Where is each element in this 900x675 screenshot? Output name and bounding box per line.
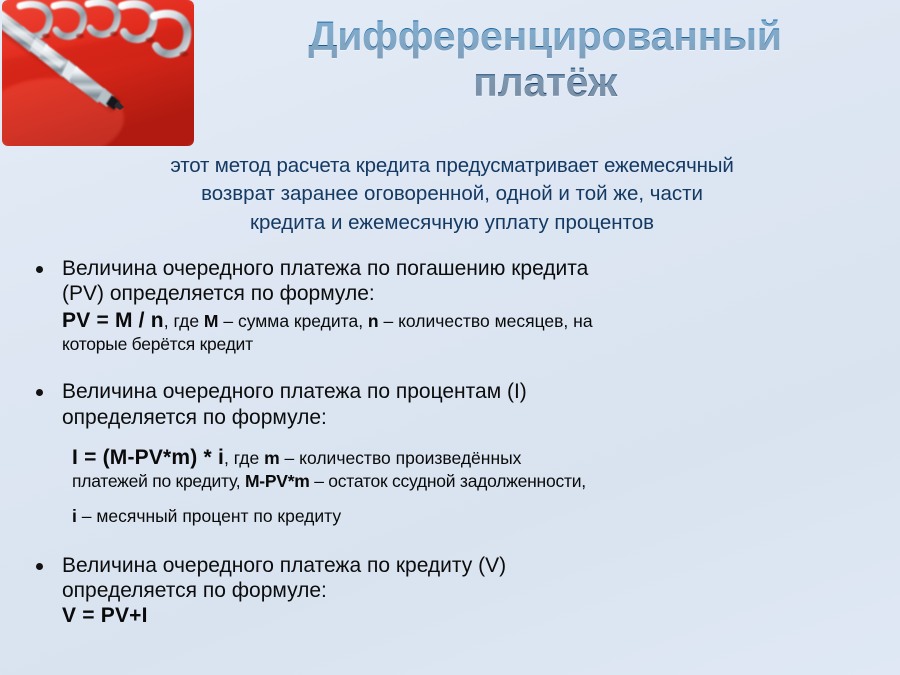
bullet-item-2: Величина очередного платежа по процентам… (24, 379, 884, 527)
formula-run: – месячный процент по кредиту (77, 506, 341, 526)
bullet-2-formula-line-1: I = (M-PV*m) * i, где m – количество про… (72, 446, 884, 471)
formula-run: – количество месяцев, на (379, 311, 593, 331)
bullet-2-lead: Величина очередного платежа по процентам… (62, 379, 884, 429)
pen-notebook-illustration (2, 0, 194, 146)
bullet-2-formula: I = (M-PV*m) * i, где m – количество про… (62, 446, 884, 527)
bullet-3-lead: Величина очередного платежа по кредиту (… (62, 553, 884, 603)
bullet-3-lead-line-1: Величина очередного платежа по кредиту (… (62, 553, 884, 578)
formula-run: , где (164, 311, 204, 331)
formula-run: V = PV+I (62, 604, 148, 627)
slide-title-line-1: Дифференцированный (200, 14, 890, 60)
formula-run: I = (M-PV*m) * i (72, 446, 224, 469)
slide-title: Дифференцированный платёж (200, 14, 890, 106)
photo-image (2, 0, 194, 146)
formula-run: – количество произведённых (280, 448, 522, 468)
bullet-item-3: Величина очередного платежа по кредиту (… (24, 553, 884, 629)
formula-run: , где (224, 448, 264, 468)
bullet-3-formula: V = PV+I (62, 604, 884, 629)
intro-paragraph: этот метод расчета кредита предусматрива… (24, 152, 880, 237)
bullet-1-formula-line-2: которые берётся кредит (62, 334, 884, 355)
formula-run: которые берётся кредит (62, 334, 253, 354)
bullet-item-1: Величина очередного платежа по погашению… (24, 256, 884, 355)
bullet-dot-icon (36, 389, 43, 396)
formula-run: M (204, 311, 219, 331)
intro-line-2: возврат заранее оговоренной, одной и той… (24, 180, 880, 208)
bullet-dot-icon (36, 266, 43, 273)
bullet-3-formula-line-1: V = PV+I (62, 604, 884, 629)
bullet-3-lead-line-2: определяется по формуле: (62, 578, 884, 603)
formula-run: платежей по кредиту, (72, 471, 245, 491)
pen-notebook-photo (0, 0, 196, 148)
formula-run: m (264, 448, 280, 468)
bullet-1-lead: Величина очередного платежа по погашению… (62, 256, 884, 306)
bullet-1-formula: PV = M / n, где M – сумма кредита, n – к… (62, 309, 884, 355)
bullet-1-lead-line-2: (PV) определяется по формуле: (62, 281, 884, 306)
formula-run: M-PV*m (245, 471, 310, 491)
slide-canvas: Дифференцированный платёж этот метод рас… (0, 0, 900, 675)
bullet-1-lead-line-1: Величина очередного платежа по погашению… (62, 256, 884, 281)
formula-run: – остаток ссудной задолженности, (310, 471, 586, 491)
bullet-list: Величина очередного платежа по погашению… (24, 256, 884, 629)
formula-run: PV = M / n (62, 309, 164, 332)
intro-line-3: кредита и ежемесячную уплату процентов (24, 209, 880, 237)
formula-run: – сумма кредита, (219, 311, 368, 331)
bullet-1-formula-line-1: PV = M / n, где M – сумма кредита, n – к… (62, 309, 884, 334)
intro-line-1: этот метод расчета кредита предусматрива… (24, 152, 880, 180)
bullet-2-formula-line-2: платежей по кредиту, M-PV*m – остаток сс… (72, 471, 884, 492)
bullet-dot-icon (36, 563, 43, 570)
bullet-2-lead-line-1: Величина очередного платежа по процентам… (62, 379, 884, 404)
bullet-2-lead-line-2: определяется по формуле: (62, 405, 884, 430)
bullet-2-formula-line-3: i – месячный процент по кредиту (72, 506, 884, 527)
slide-title-line-2: платёж (200, 60, 890, 106)
formula-run: n (368, 311, 379, 331)
